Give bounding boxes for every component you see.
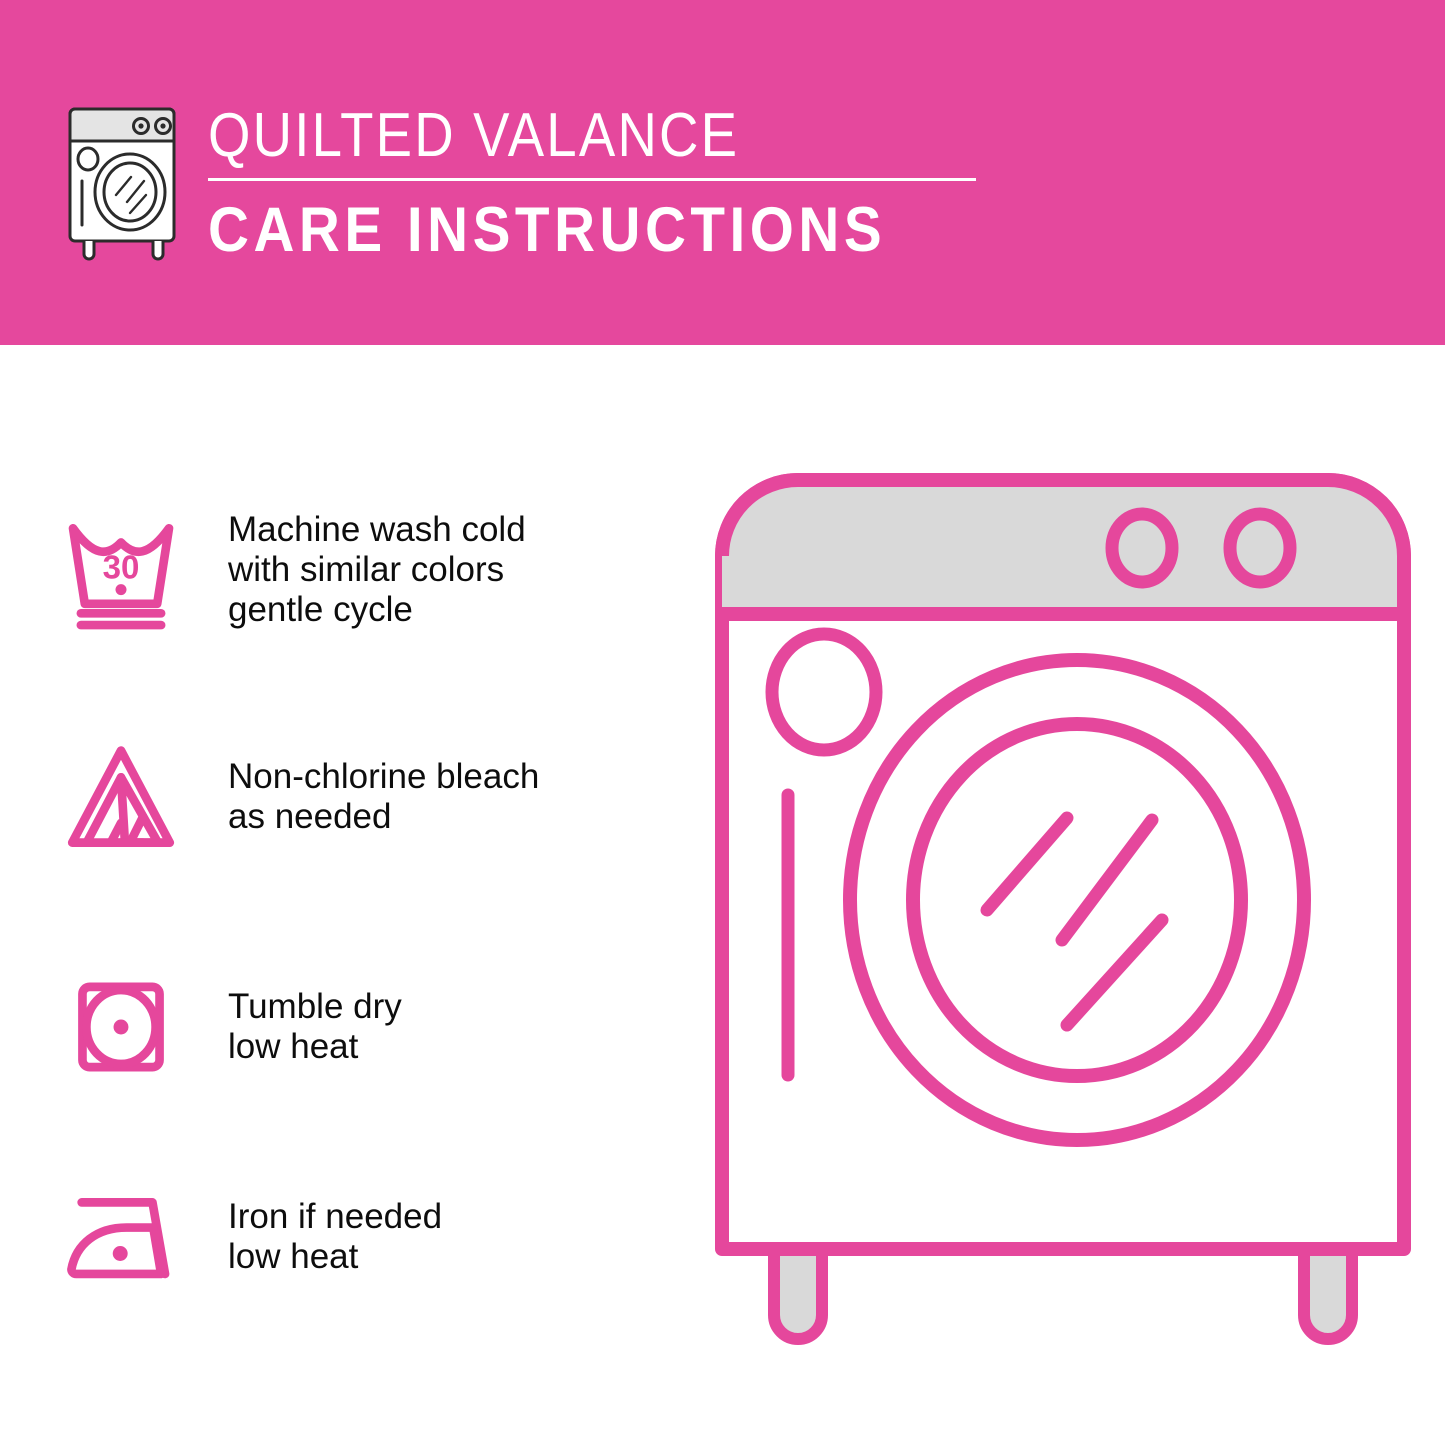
header-text-block: QUILTED VALANCE CARE INSTRUCTIONS bbox=[208, 100, 998, 265]
iron-low-heat-icon bbox=[0, 1157, 180, 1317]
leg-right bbox=[1304, 1245, 1352, 1339]
leg-left bbox=[774, 1245, 822, 1339]
washing-machine-icon bbox=[60, 103, 188, 261]
tumble-dry-low-heat-icon bbox=[0, 947, 180, 1107]
care-text-bleach: Non-chlorine bleach as needed bbox=[180, 757, 539, 837]
wash-tub-30-gentle-icon: 30 bbox=[0, 490, 180, 650]
washing-machine-illustration bbox=[712, 470, 1412, 1370]
care-text-wash: Machine wash cold with similar colors ge… bbox=[180, 510, 526, 630]
header-band: QUILTED VALANCE CARE INSTRUCTIONS bbox=[0, 0, 1445, 345]
care-row-wash: 30 Machine wash cold with similar colors… bbox=[0, 490, 700, 650]
wash-temperature-label: 30 bbox=[103, 550, 140, 587]
control-panel bbox=[722, 480, 1404, 614]
care-row-tumble-dry: Tumble dry low heat bbox=[0, 947, 700, 1107]
care-instructions-page: QUILTED VALANCE CARE INSTRUCTIONS 30 bbox=[0, 0, 1445, 1445]
non-chlorine-bleach-triangle-icon bbox=[0, 717, 180, 877]
care-text-iron: Iron if needed low heat bbox=[180, 1197, 442, 1277]
care-instruction-list: 30 Machine wash cold with similar colors… bbox=[0, 345, 700, 1445]
care-text-tumble-dry: Tumble dry low heat bbox=[180, 987, 402, 1067]
page-subtitle: CARE INSTRUCTIONS bbox=[208, 195, 919, 265]
page-title: QUILTED VALANCE bbox=[208, 100, 903, 172]
title-divider bbox=[208, 178, 976, 181]
care-row-iron: Iron if needed low heat bbox=[0, 1157, 700, 1317]
care-row-bleach: Non-chlorine bleach as needed bbox=[0, 717, 700, 877]
